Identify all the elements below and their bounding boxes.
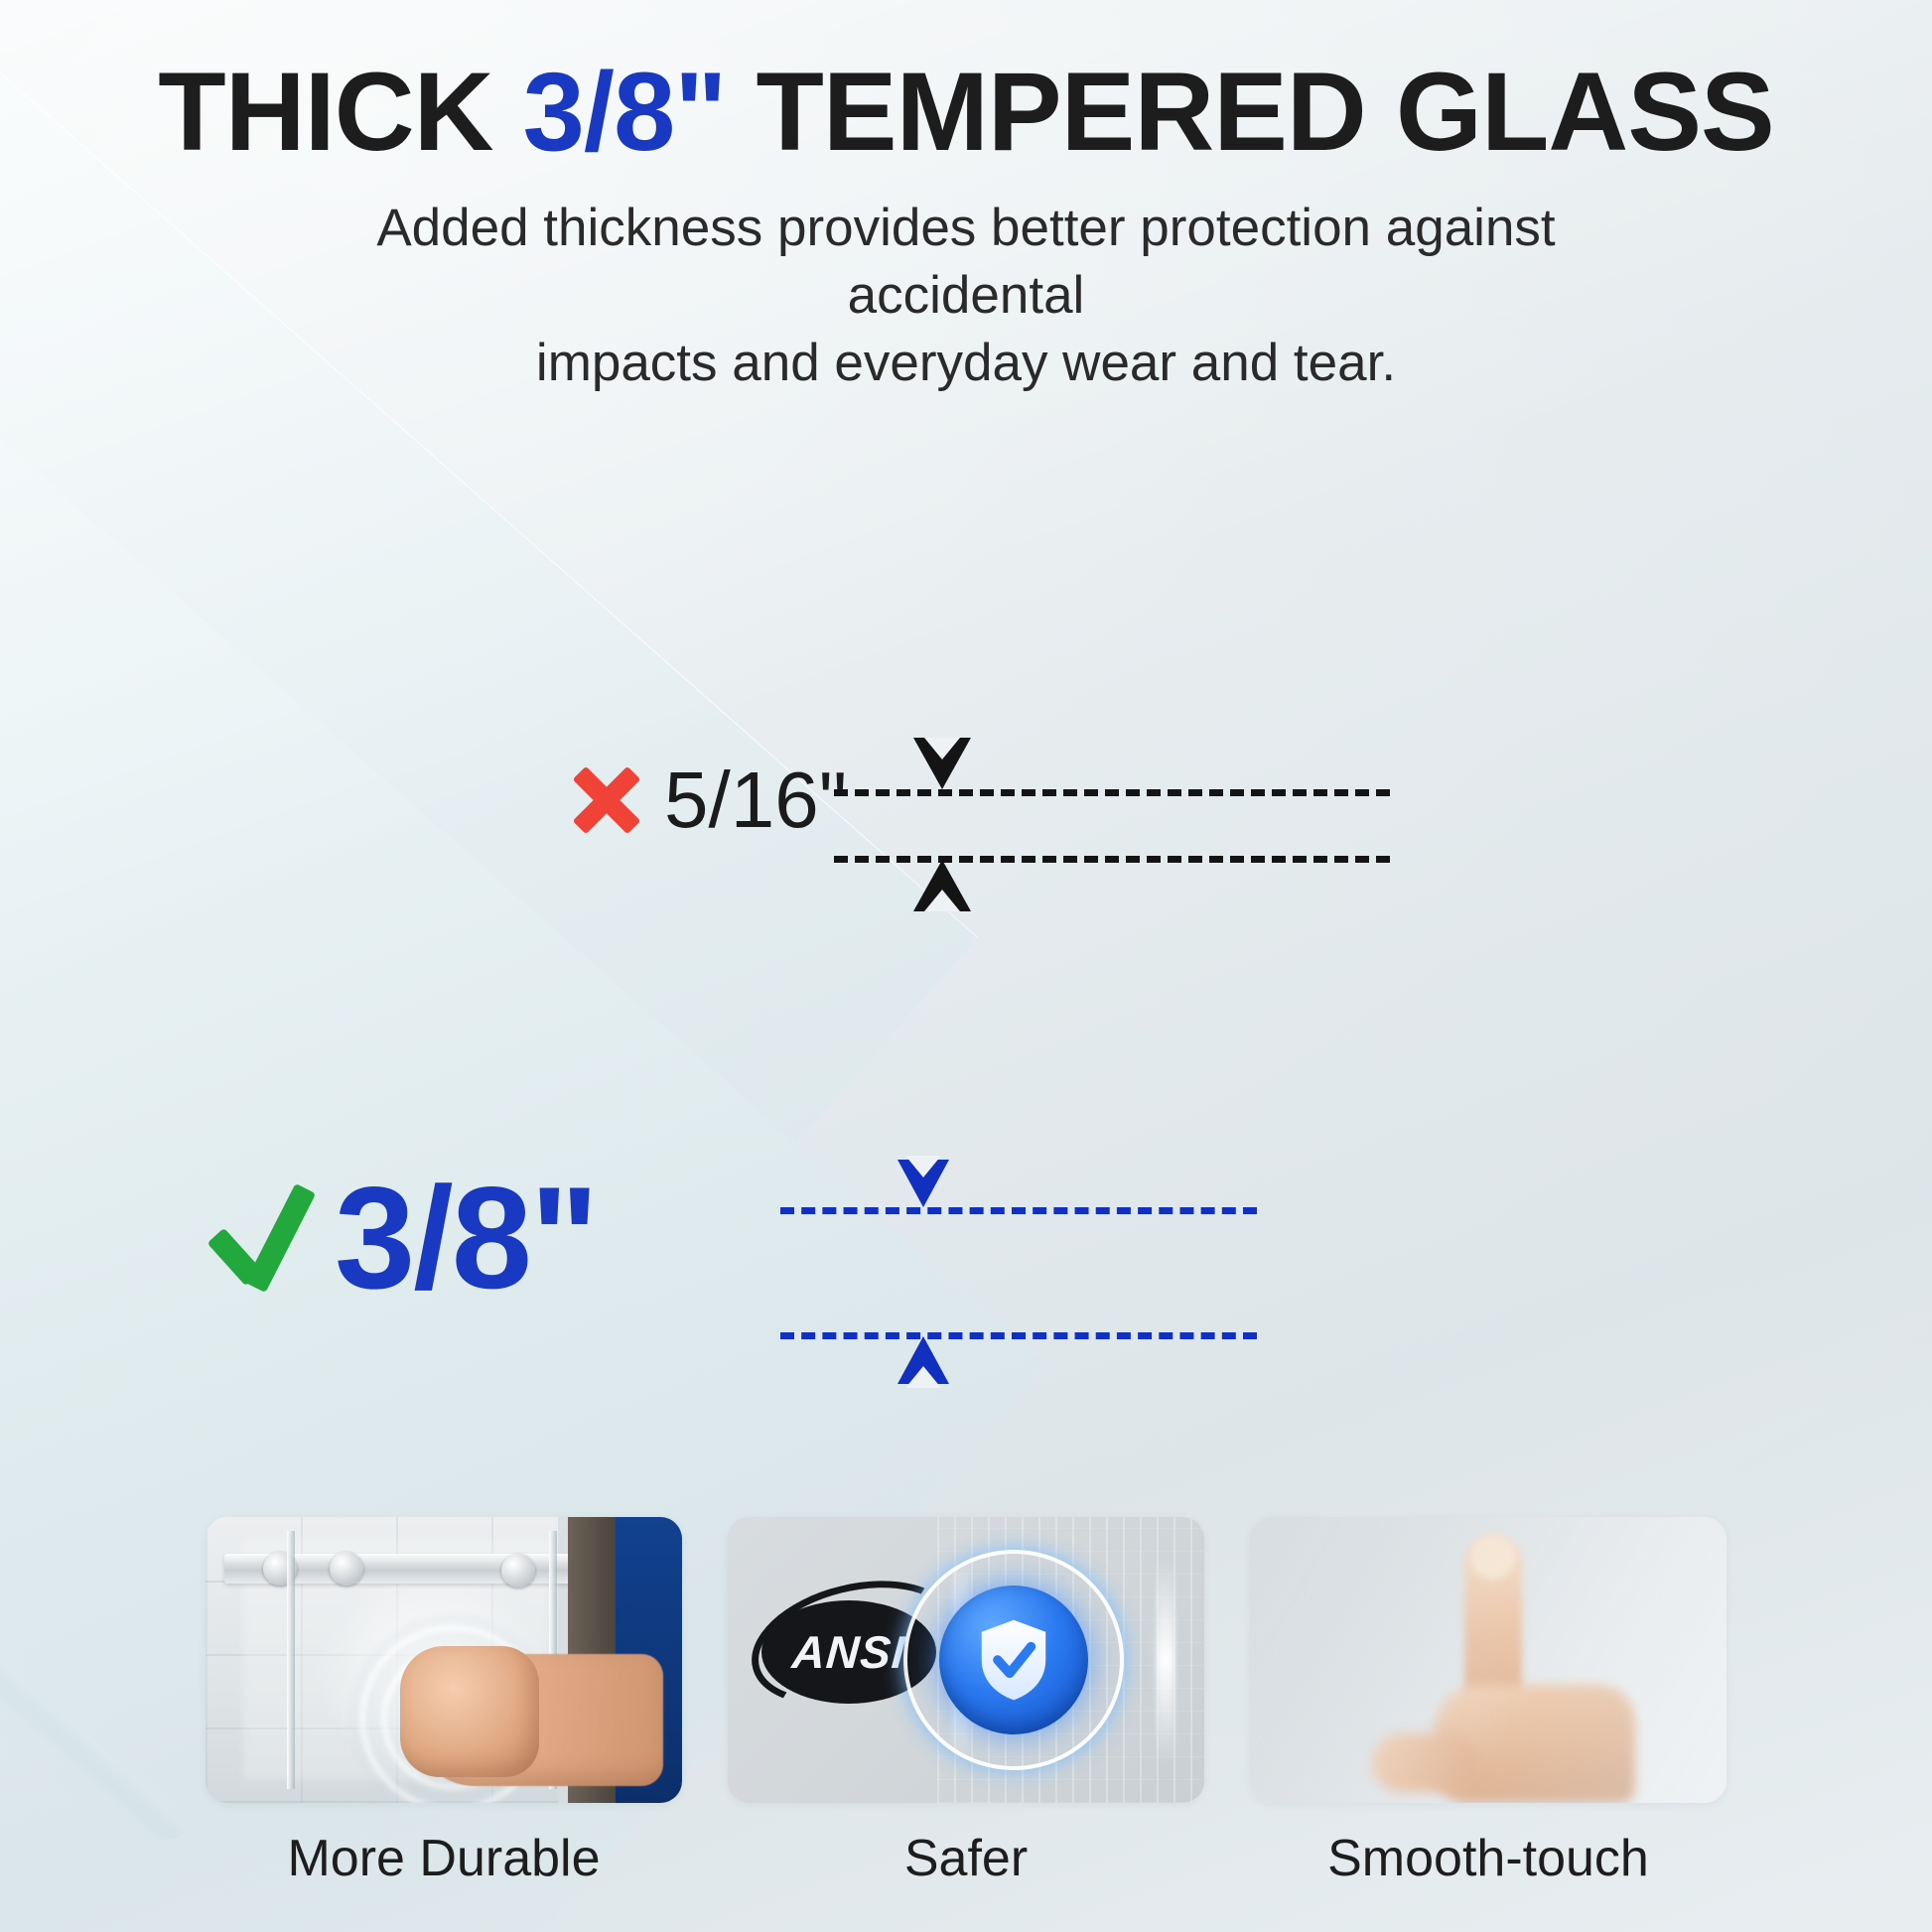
feature-caption: Safer — [728, 1829, 1204, 1888]
ansi-logo-text: ANSI — [790, 1625, 907, 1679]
header: THICK 3/8" TEMPERED GLASS Added thicknes… — [0, 0, 1932, 397]
thin-leader-line-bottom — [834, 856, 1390, 863]
roller-wheel-2 — [330, 1552, 363, 1586]
thick-dimension-annotation: 3/8" — [204, 1172, 597, 1305]
infographic-canvas: THICK 3/8" TEMPERED GLASS Added thicknes… — [0, 0, 1932, 1932]
shield-check-icon — [976, 1617, 1051, 1703]
feature-card-smooth-touch[interactable]: Smooth-touch — [1250, 1517, 1726, 1888]
thick-arrow-up-icon — [897, 1336, 949, 1384]
thin-arrow-up-icon — [913, 860, 971, 911]
ansi-shield-image: ANSI — [728, 1517, 1204, 1803]
roller-wheel-3 — [501, 1554, 535, 1587]
feature-caption: More Durable — [206, 1829, 682, 1888]
check-mark-icon — [204, 1190, 321, 1286]
page-subtitle: Added thickness provides better protecti… — [306, 195, 1626, 396]
shield-badge-icon — [939, 1586, 1088, 1734]
feature-card-durable[interactable]: More Durable — [206, 1517, 682, 1888]
closed-fist — [400, 1646, 539, 1777]
feature-cards: More Durable ANSI — [0, 1517, 1932, 1932]
feature-card-safer[interactable]: ANSI Safer — [728, 1517, 1204, 1888]
feature-caption: Smooth-touch — [1250, 1829, 1726, 1888]
finger-touching-glass-image — [1250, 1517, 1726, 1803]
fist-hitting-shower-door-image — [206, 1517, 682, 1803]
thick-leader-line-bottom — [780, 1332, 1257, 1339]
thick-dimension-label: 3/8" — [335, 1172, 597, 1305]
title-thickness-highlight: 3/8" — [523, 50, 727, 174]
page-title: THICK 3/8" TEMPERED GLASS — [0, 0, 1932, 169]
glow-bar-right — [1157, 1557, 1174, 1762]
subtitle-line-1: Added thickness provides better protecti… — [376, 199, 1555, 325]
door-mullion-1 — [287, 1531, 295, 1788]
thick-leader-line-top — [780, 1207, 1257, 1214]
frosted-glass-haze — [1250, 1517, 1726, 1803]
thin-dimension-label: 5/16" — [664, 755, 847, 846]
thick-arrow-down-icon — [897, 1160, 949, 1207]
thin-arrow-down-icon — [913, 738, 971, 789]
subtitle-line-2: impacts and everyday wear and tear. — [536, 334, 1396, 392]
title-prefix: THICK — [158, 50, 522, 174]
title-suffix: TEMPERED GLASS — [726, 50, 1773, 174]
thin-dimension-annotation: 5/16" — [571, 755, 847, 846]
x-mark-icon — [571, 764, 642, 836]
thin-leader-line-top — [834, 789, 1390, 796]
